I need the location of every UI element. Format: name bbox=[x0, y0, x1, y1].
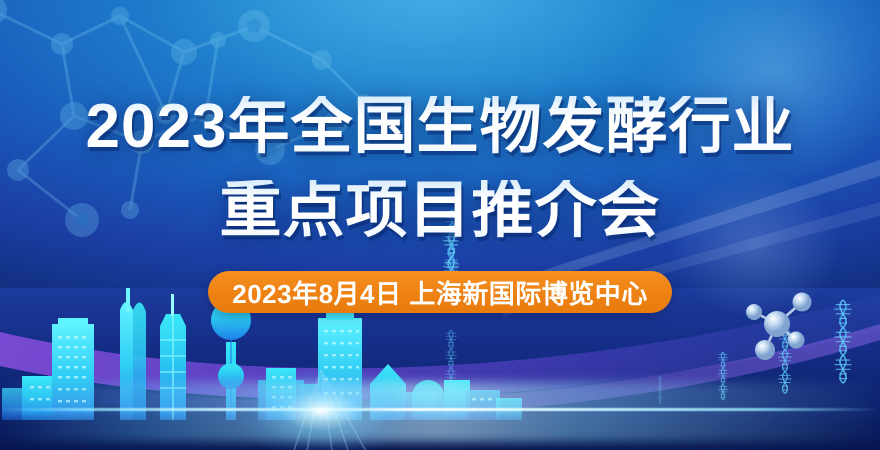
horizon-light-line bbox=[0, 408, 880, 411]
event-date-venue-badge: 2023年8月4日 上海新国际博览中心 bbox=[208, 271, 671, 313]
event-banner: 2023年全国生物发酵行业 重点项目推介会 2023年8月4日 上海新国际博览中… bbox=[0, 0, 880, 450]
banner-title-line-2: 重点项目推介会 bbox=[0, 180, 880, 242]
banner-title-line-1: 2023年全国生物发酵行业 bbox=[0, 96, 880, 158]
banner-subtitle-wrap: 2023年8月4日 上海新国际博览中心 bbox=[0, 271, 880, 313]
light-flare-icon bbox=[206, 352, 436, 450]
